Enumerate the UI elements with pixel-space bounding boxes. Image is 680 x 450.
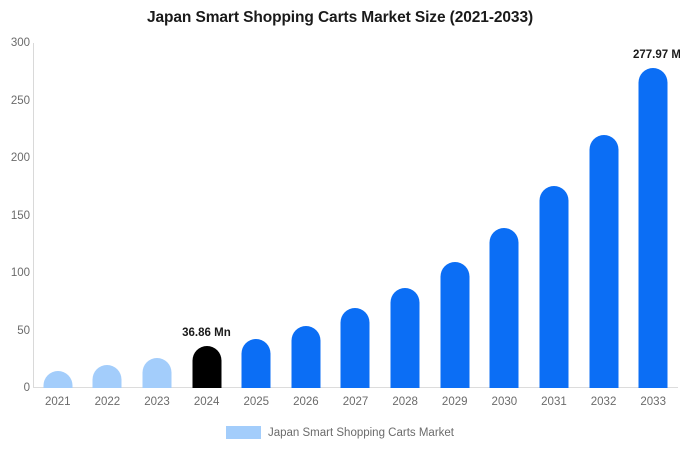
bar-slot <box>331 43 381 388</box>
y-axis-tick-label: 0 <box>0 382 30 394</box>
x-axis-tick-label: 2027 <box>343 396 369 408</box>
x-axis-tick-label: 2033 <box>640 396 666 408</box>
x-axis-tick-label: 2030 <box>492 396 518 408</box>
x-axis-tick-label: 2031 <box>541 396 567 408</box>
legend-swatch-icon <box>226 426 261 439</box>
bar-slot <box>529 43 579 388</box>
x-axis-tick-label: 2032 <box>591 396 617 408</box>
chart-container: Japan Smart Shopping Carts Market Size (… <box>0 0 680 450</box>
y-axis-tick-label: 150 <box>0 210 30 222</box>
x-axis-tick-label: 2025 <box>243 396 269 408</box>
bar-slot <box>132 43 182 388</box>
bar-2030[interactable] <box>490 228 519 388</box>
legend-label: Japan Smart Shopping Carts Market <box>268 427 454 439</box>
x-axis-tick-label: 2028 <box>392 396 418 408</box>
bar-2022[interactable] <box>93 365 122 388</box>
bar-2028[interactable] <box>391 288 420 388</box>
y-axis-tick-label: 100 <box>0 267 30 279</box>
x-axis-tick-label: 2026 <box>293 396 319 408</box>
y-axis-tick-label: 50 <box>0 325 30 337</box>
value-label-2033: 277.97 Mn <box>633 49 680 61</box>
bar-slot <box>380 43 430 388</box>
bar-2031[interactable] <box>539 186 568 388</box>
bar-slot <box>231 43 281 388</box>
bar-slot <box>33 43 83 388</box>
x-axis-tick-label: 2024 <box>194 396 220 408</box>
x-axis-tick-label: 2023 <box>144 396 170 408</box>
bar-2029[interactable] <box>440 262 469 389</box>
bar-2033[interactable] <box>639 68 668 388</box>
bar-2025[interactable] <box>242 339 271 388</box>
bar-slot <box>430 43 480 388</box>
y-axis-tick-label: 250 <box>0 95 30 107</box>
bar-slot <box>83 43 133 388</box>
bar-slot <box>480 43 530 388</box>
chart-legend: Japan Smart Shopping Carts Market <box>0 426 680 439</box>
bar-2027[interactable] <box>341 308 370 389</box>
bar-group <box>33 43 678 388</box>
y-axis-tick-label: 200 <box>0 152 30 164</box>
x-axis-tick-label: 2022 <box>95 396 121 408</box>
y-axis-labels: 050100150200250300 <box>0 0 30 450</box>
y-axis-tick-label: 300 <box>0 37 30 49</box>
bar-slot <box>628 43 678 388</box>
bar-2023[interactable] <box>143 358 172 388</box>
x-axis-labels: 2021202220232024202520262027202820292030… <box>33 396 678 414</box>
bar-2024[interactable] <box>192 346 221 388</box>
x-axis-tick-label: 2029 <box>442 396 468 408</box>
bar-2026[interactable] <box>291 326 320 388</box>
plot-area <box>33 43 678 388</box>
bar-slot <box>579 43 629 388</box>
bar-slot <box>281 43 331 388</box>
bar-2032[interactable] <box>589 135 618 388</box>
legend-item[interactable]: Japan Smart Shopping Carts Market <box>226 426 454 439</box>
chart-title: Japan Smart Shopping Carts Market Size (… <box>0 9 680 27</box>
bar-2021[interactable] <box>43 371 72 388</box>
x-axis-tick-label: 2021 <box>45 396 71 408</box>
value-label-2024: 36.86 Mn <box>182 327 231 339</box>
